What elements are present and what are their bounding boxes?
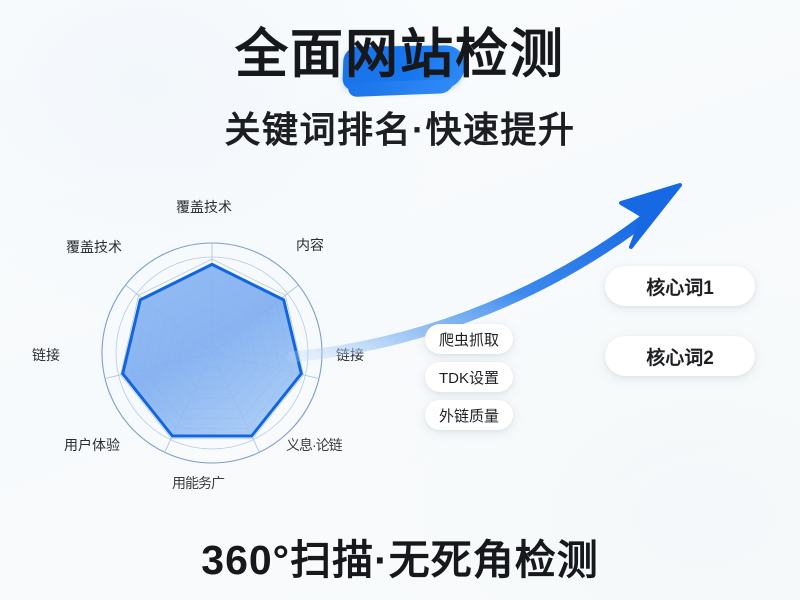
tag-pill-backlink[interactable]: 外链质量 — [425, 400, 513, 430]
page-subtitle: 关键词排名·快速提升 — [0, 101, 800, 153]
keyword-pill-1[interactable]: 核心词1 — [605, 266, 755, 306]
keyword-pill-2[interactable]: 核心词2 — [605, 336, 755, 376]
radar-label-bottom-left: 用户体验 — [64, 435, 120, 455]
page-title: 全面网站检测 — [235, 28, 565, 81]
headline-block: 全面网站检测 关键词排名·快速提升 — [0, 28, 800, 153]
radar-label-top-right: 内容 — [296, 235, 324, 255]
title-wrapper: 全面网站检测 — [235, 28, 565, 81]
footer-slogan: 360°扫描·无死角检测 — [0, 526, 800, 586]
radar-chart: 覆盖技术 内容 链接 义息·论链 用能务广 用户体验 覆盖技术 链接 — [28, 185, 428, 515]
radar-label-right: 链接 — [336, 345, 364, 365]
radar-label-left: 链接 — [32, 345, 60, 365]
radar-label-bottom-right: 义息·论链 — [286, 435, 342, 455]
radar-label-top-left: 覆盖技术 — [66, 237, 122, 257]
poster-canvas: 全面网站检测 关键词排名·快速提升 — [0, 0, 800, 600]
tag-pill-crawl[interactable]: 爬虫抓取 — [425, 324, 513, 354]
arrow-head — [621, 185, 680, 247]
radar-label-top: 覆盖技术 — [176, 197, 232, 217]
radar-label-bottom: 用能务广 — [172, 473, 224, 493]
radar-chart-svg — [28, 185, 428, 515]
tag-pill-tdk[interactable]: TDK设置 — [425, 362, 513, 392]
